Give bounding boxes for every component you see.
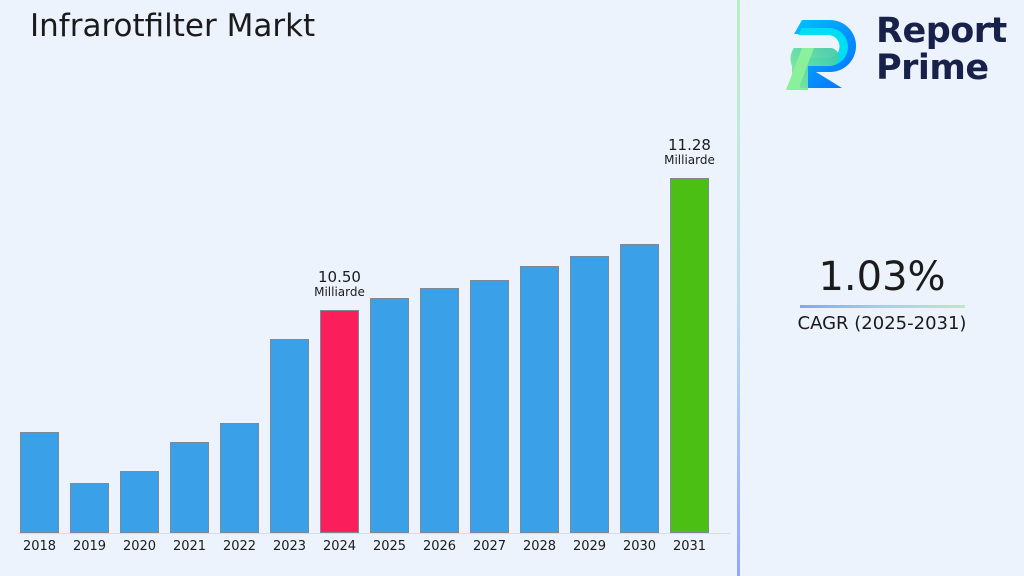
bar-2023: [270, 339, 309, 533]
bar-2019: [70, 483, 109, 533]
x-axis-label-2019: 2019: [64, 539, 115, 554]
x-axis-label-2024: 2024: [314, 539, 365, 554]
x-axis-line: [18, 533, 730, 534]
x-axis-label-2029: 2029: [564, 539, 615, 554]
x-axis-label-2030: 2030: [614, 539, 665, 554]
cagr-label: CAGR (2025-2031): [740, 313, 1024, 334]
bar-2026: [420, 288, 459, 533]
report-prime-logo-mark-icon: [780, 14, 866, 94]
x-axis-label-2020: 2020: [114, 539, 165, 554]
bar-2031: [670, 178, 709, 533]
brand-wordmark: Report Prime: [876, 13, 1007, 87]
x-axis-label-2026: 2026: [414, 539, 465, 554]
bar-2022: [220, 423, 259, 533]
brand-logo: Report Prime: [780, 8, 1010, 100]
bar-chart-plot: 201820192020202120222023202410.50Milliar…: [0, 0, 738, 576]
x-axis-label-2031: 2031: [664, 539, 715, 554]
bar-2021: [170, 442, 209, 533]
bar-value-unit-2024: Milliarde: [285, 286, 394, 299]
brand-wordmark-line1: Report: [876, 13, 1007, 50]
cagr-divider-rule: [800, 305, 965, 308]
cagr-value: 1.03%: [740, 255, 1024, 299]
cagr-block: 1.03% CAGR (2025-2031): [740, 255, 1024, 334]
x-axis-label-2021: 2021: [164, 539, 215, 554]
bar-2020: [120, 471, 159, 533]
summary-panel: Report Prime 1.03% CAGR (2025-2031): [740, 0, 1024, 576]
bar-value-number-2024: 10.50: [285, 270, 394, 286]
bar-2024: [320, 310, 359, 533]
bar-value-label-2031: 11.28Milliarde: [635, 138, 744, 166]
bar-2027: [470, 280, 509, 533]
x-axis-label-2023: 2023: [264, 539, 315, 554]
bar-2029: [570, 256, 609, 533]
bar-2025: [370, 298, 409, 533]
x-axis-label-2028: 2028: [514, 539, 565, 554]
brand-wordmark-line2: Prime: [876, 50, 1007, 87]
chart-panel: Infrarotfilter Markt 2018201920202021202…: [0, 0, 738, 576]
x-axis-label-2027: 2027: [464, 539, 515, 554]
bar-value-number-2031: 11.28: [635, 138, 744, 154]
x-axis-label-2022: 2022: [214, 539, 265, 554]
x-axis-label-2018: 2018: [14, 539, 65, 554]
x-axis-label-2025: 2025: [364, 539, 415, 554]
bar-2018: [20, 432, 59, 533]
infographic-root: Infrarotfilter Markt 2018201920202021202…: [0, 0, 1024, 576]
bar-2030: [620, 244, 659, 533]
bar-value-unit-2031: Milliarde: [635, 154, 744, 167]
bar-2028: [520, 266, 559, 533]
bar-value-label-2024: 10.50Milliarde: [285, 270, 394, 298]
